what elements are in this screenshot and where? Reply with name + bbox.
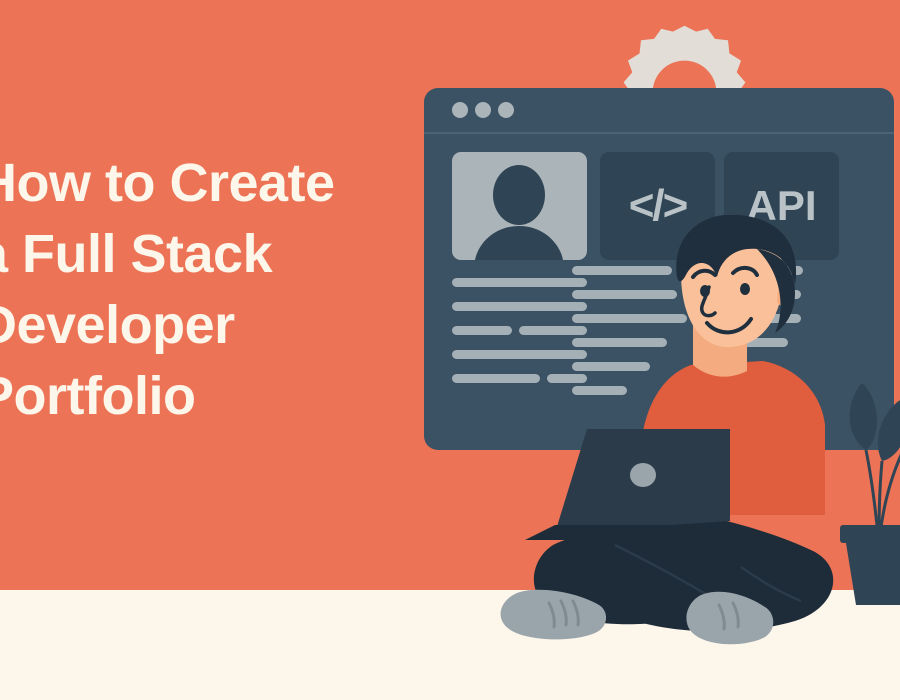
- window-dot-3[interactable]: [498, 102, 514, 118]
- laptop[interactable]: [525, 425, 740, 540]
- banner-canvas: </> API: [0, 0, 900, 700]
- page-title: How to Create a Full Stack Developer Por…: [0, 148, 438, 432]
- window-dot-1[interactable]: [452, 102, 468, 118]
- window-titlebar: [424, 88, 894, 132]
- laptop-logo-icon: [630, 463, 656, 487]
- eye: [740, 283, 750, 295]
- laptop-base: [525, 525, 740, 540]
- window-dot-2[interactable]: [475, 102, 491, 118]
- titlebar-separator: [424, 132, 894, 134]
